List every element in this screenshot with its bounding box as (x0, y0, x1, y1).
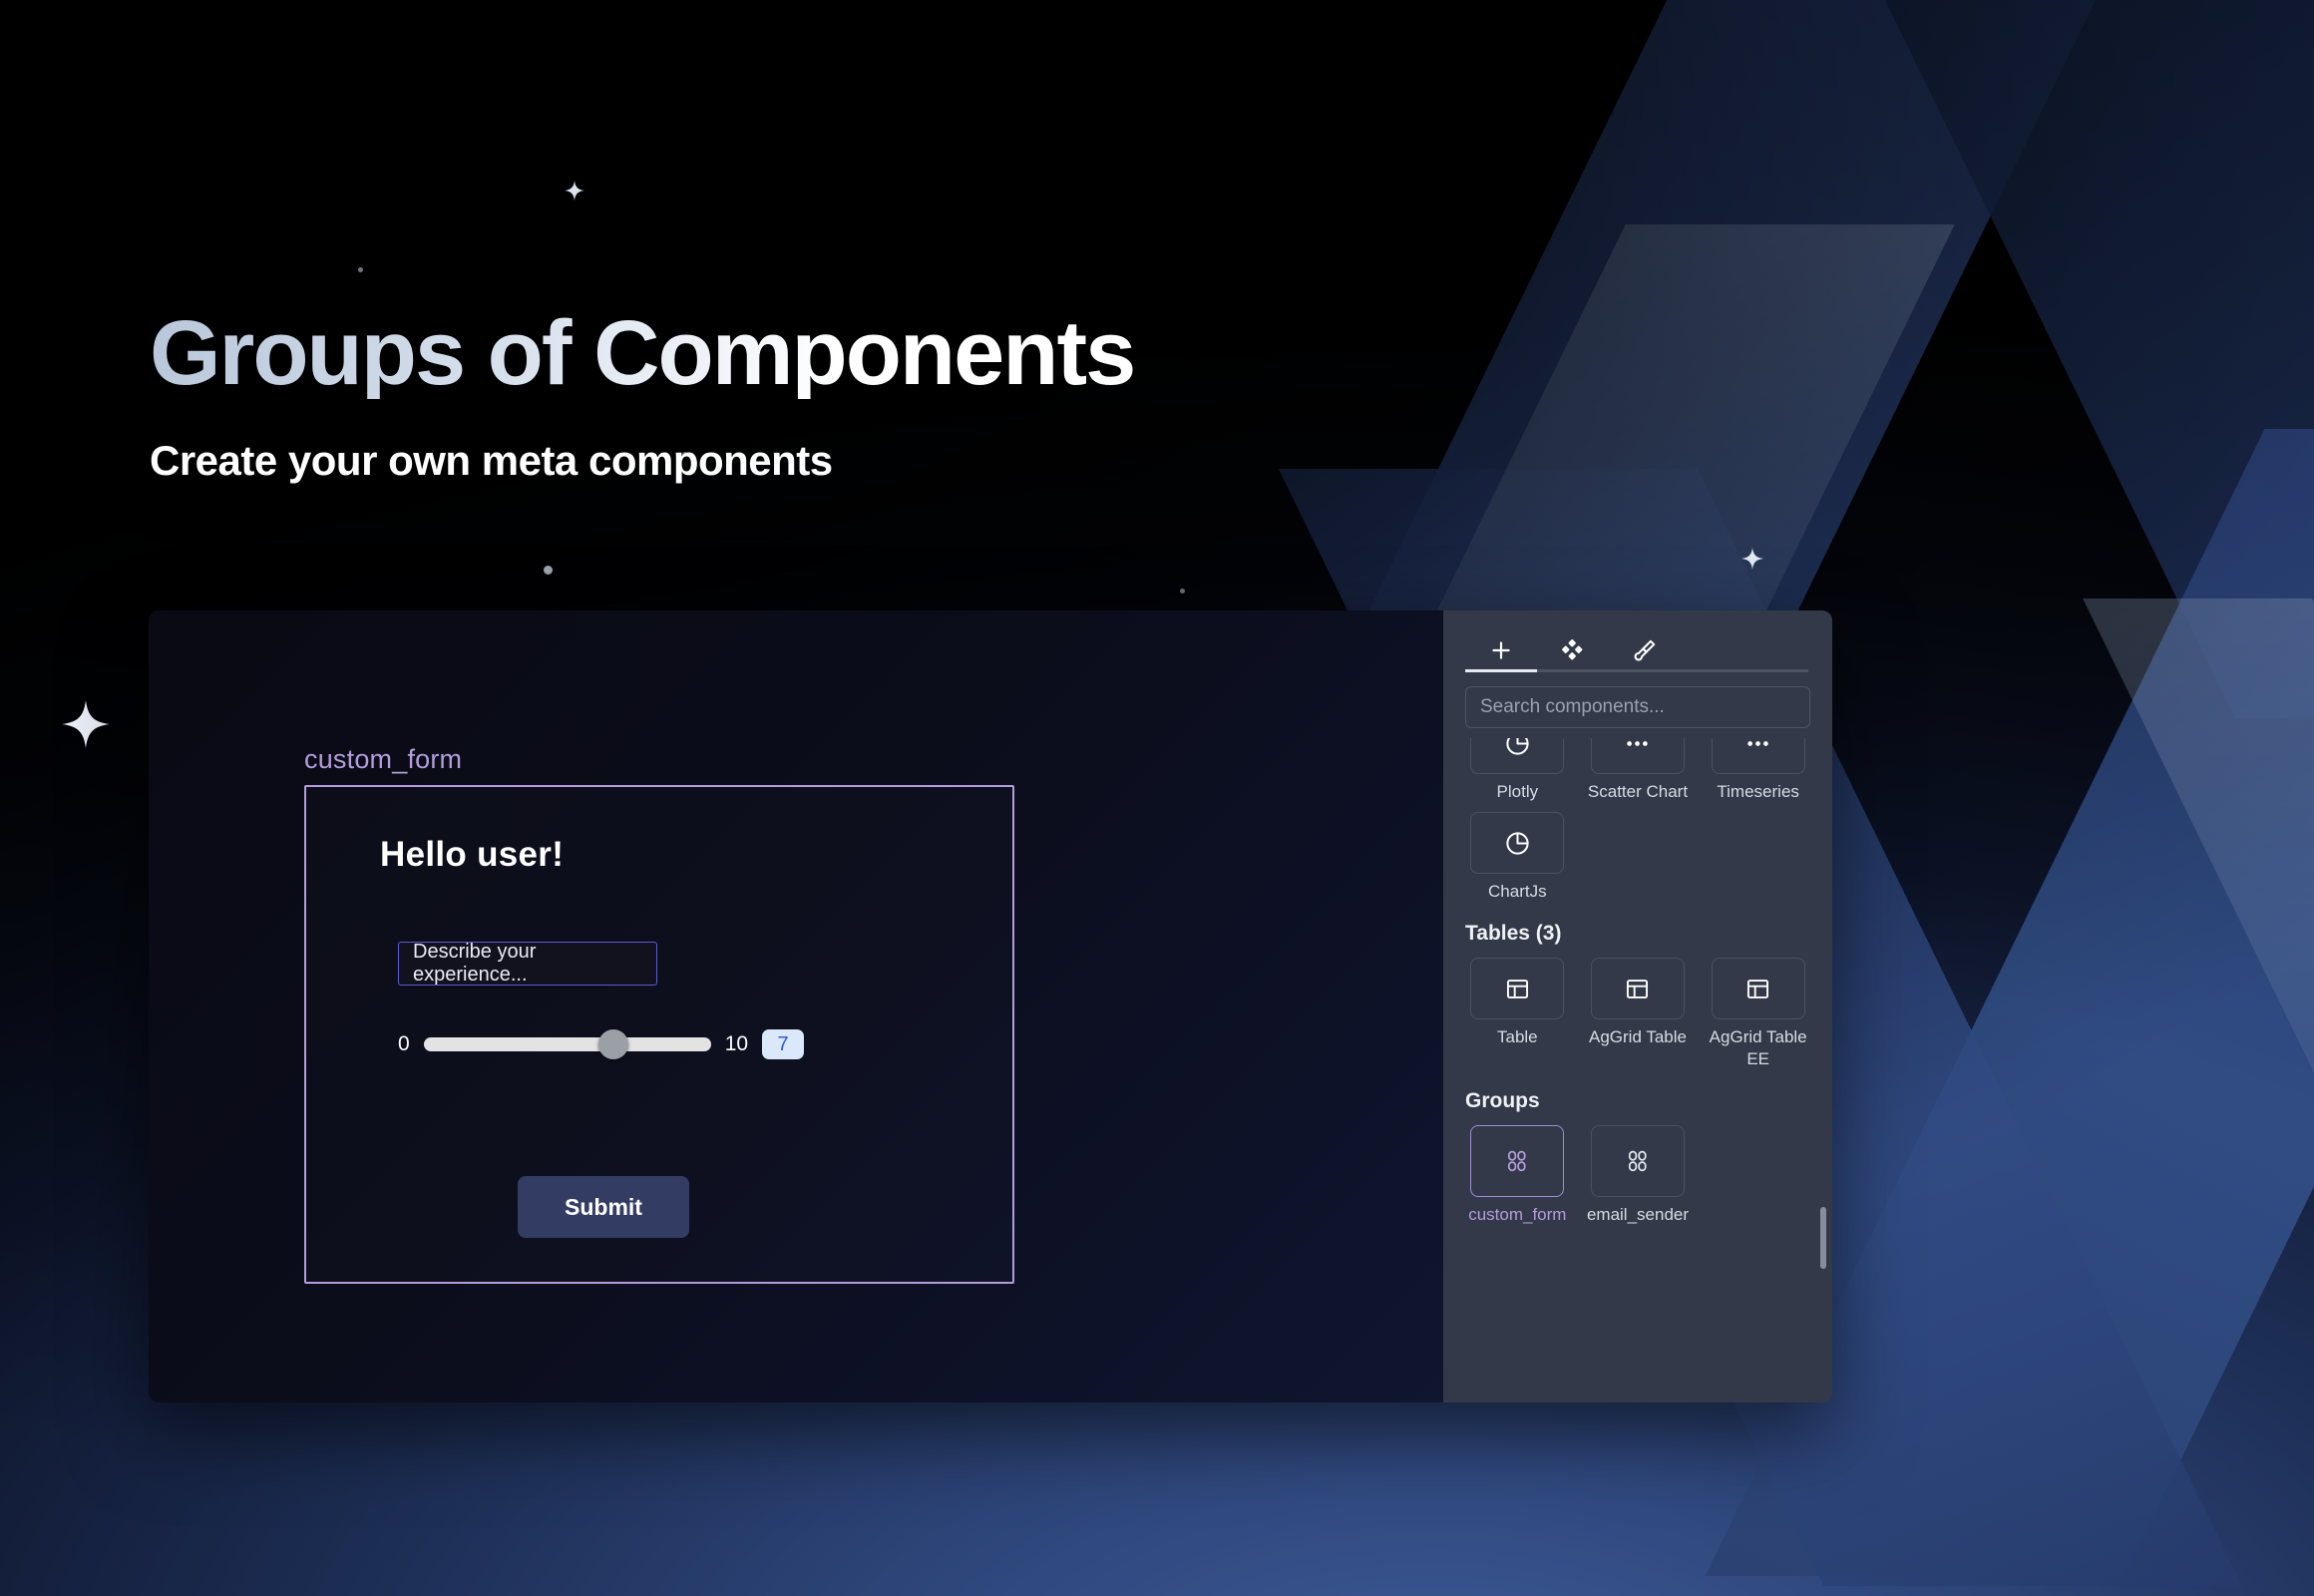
component-label: Table (1497, 1026, 1538, 1047)
slider-min-label: 0 (398, 1032, 410, 1056)
slider-track[interactable] (424, 1037, 711, 1051)
component-tile (1470, 1125, 1564, 1197)
group-name-label: custom_form (304, 744, 1014, 775)
component-aggrid-table[interactable]: AgGrid Table (1586, 958, 1691, 1069)
search-input[interactable] (1465, 686, 1810, 728)
dots-icon (1624, 738, 1651, 757)
component-group[interactable]: custom_form Hello user! Describe your ex… (304, 744, 1014, 1284)
tab-style[interactable] (1609, 628, 1681, 672)
component-tile (1712, 958, 1805, 1019)
rating-slider-row[interactable]: 0 10 7 (398, 1029, 804, 1059)
charts-row-clipped: Plotly Scatter Chart Times (1465, 738, 1810, 804)
component-plotly[interactable]: Plotly (1465, 738, 1570, 802)
group-boundary[interactable]: Hello user! Describe your experience... … (304, 785, 1014, 1284)
component-label: Plotly (1497, 781, 1539, 802)
app-window: custom_form Hello user! Describe your ex… (149, 610, 1832, 1402)
section-title-groups: Groups (1465, 1089, 1810, 1113)
group-icon (1503, 1147, 1531, 1175)
component-tile (1470, 738, 1564, 774)
component-tile (1591, 958, 1685, 1019)
table-icon (1624, 976, 1651, 1002)
table-icon (1504, 976, 1531, 1002)
component-label: custom_form (1468, 1204, 1566, 1225)
component-label: ChartJs (1488, 881, 1547, 902)
hero-section: Groups of Components Create your own met… (150, 307, 1134, 485)
plus-icon (1488, 637, 1514, 663)
group-icon (1624, 1147, 1652, 1175)
panel-tab-bar (1443, 610, 1832, 672)
panel-scrollbar-thumb[interactable] (1820, 1207, 1826, 1269)
component-tile (1591, 1125, 1685, 1197)
tab-add[interactable] (1465, 628, 1537, 672)
slider-thumb[interactable] (598, 1029, 628, 1059)
components-panel: Plotly Scatter Chart Times (1443, 610, 1832, 1402)
tables-row: Table AgGrid Table AgGrid Table EE (1465, 958, 1810, 1069)
component-scatter-chart[interactable]: Scatter Chart (1586, 738, 1691, 802)
submit-button[interactable]: Submit (518, 1176, 689, 1238)
component-tile (1591, 738, 1685, 774)
pie-chart-icon (1504, 830, 1531, 857)
component-chartjs[interactable]: ChartJs (1465, 812, 1570, 902)
greeting-text: Hello user! (380, 835, 564, 875)
component-label: AgGrid Table EE (1706, 1026, 1810, 1069)
component-tile (1470, 958, 1564, 1019)
charts-row: Plotly Scatter Chart Times (1465, 738, 1810, 802)
slider-value-badge: 7 (762, 1029, 804, 1059)
component-tile (1470, 812, 1564, 874)
components-list[interactable]: Plotly Scatter Chart Times (1443, 738, 1832, 1402)
table-icon (1744, 976, 1771, 1002)
experience-input[interactable]: Describe your experience... (398, 942, 657, 986)
group-email-sender[interactable]: email_sender (1586, 1125, 1691, 1225)
pie-chart-icon (1504, 738, 1531, 757)
component-aggrid-table-ee[interactable]: AgGrid Table EE (1706, 958, 1810, 1069)
component-label: Timeseries (1717, 781, 1799, 802)
groups-row: custom_form email_sender (1465, 1125, 1810, 1225)
page-title: Groups of Components (150, 307, 1134, 399)
tab-components[interactable] (1537, 628, 1609, 672)
group-custom-form[interactable]: custom_form (1465, 1125, 1570, 1225)
component-timeseries[interactable]: Timeseries (1706, 738, 1810, 802)
paintbrush-icon (1632, 637, 1658, 663)
editor-canvas[interactable]: custom_form Hello user! Describe your ex… (149, 610, 1443, 1402)
diamonds-icon (1560, 637, 1586, 663)
charts-row-2: ChartJs (1465, 812, 1810, 902)
tab-underline (1465, 669, 1808, 672)
component-label: Scatter Chart (1588, 781, 1688, 802)
page-subtitle: Create your own meta components (150, 437, 1134, 485)
page-root: Groups of Components Create your own met… (0, 0, 2314, 1596)
component-tile (1712, 738, 1805, 774)
component-table[interactable]: Table (1465, 958, 1570, 1069)
slider-max-label: 10 (725, 1032, 748, 1056)
search-area (1443, 672, 1832, 738)
component-label: AgGrid Table (1589, 1026, 1687, 1047)
component-label: email_sender (1587, 1204, 1689, 1225)
section-title-tables: Tables (3) (1465, 922, 1810, 946)
tab-active-indicator (1465, 669, 1537, 672)
dots-icon (1744, 738, 1771, 757)
